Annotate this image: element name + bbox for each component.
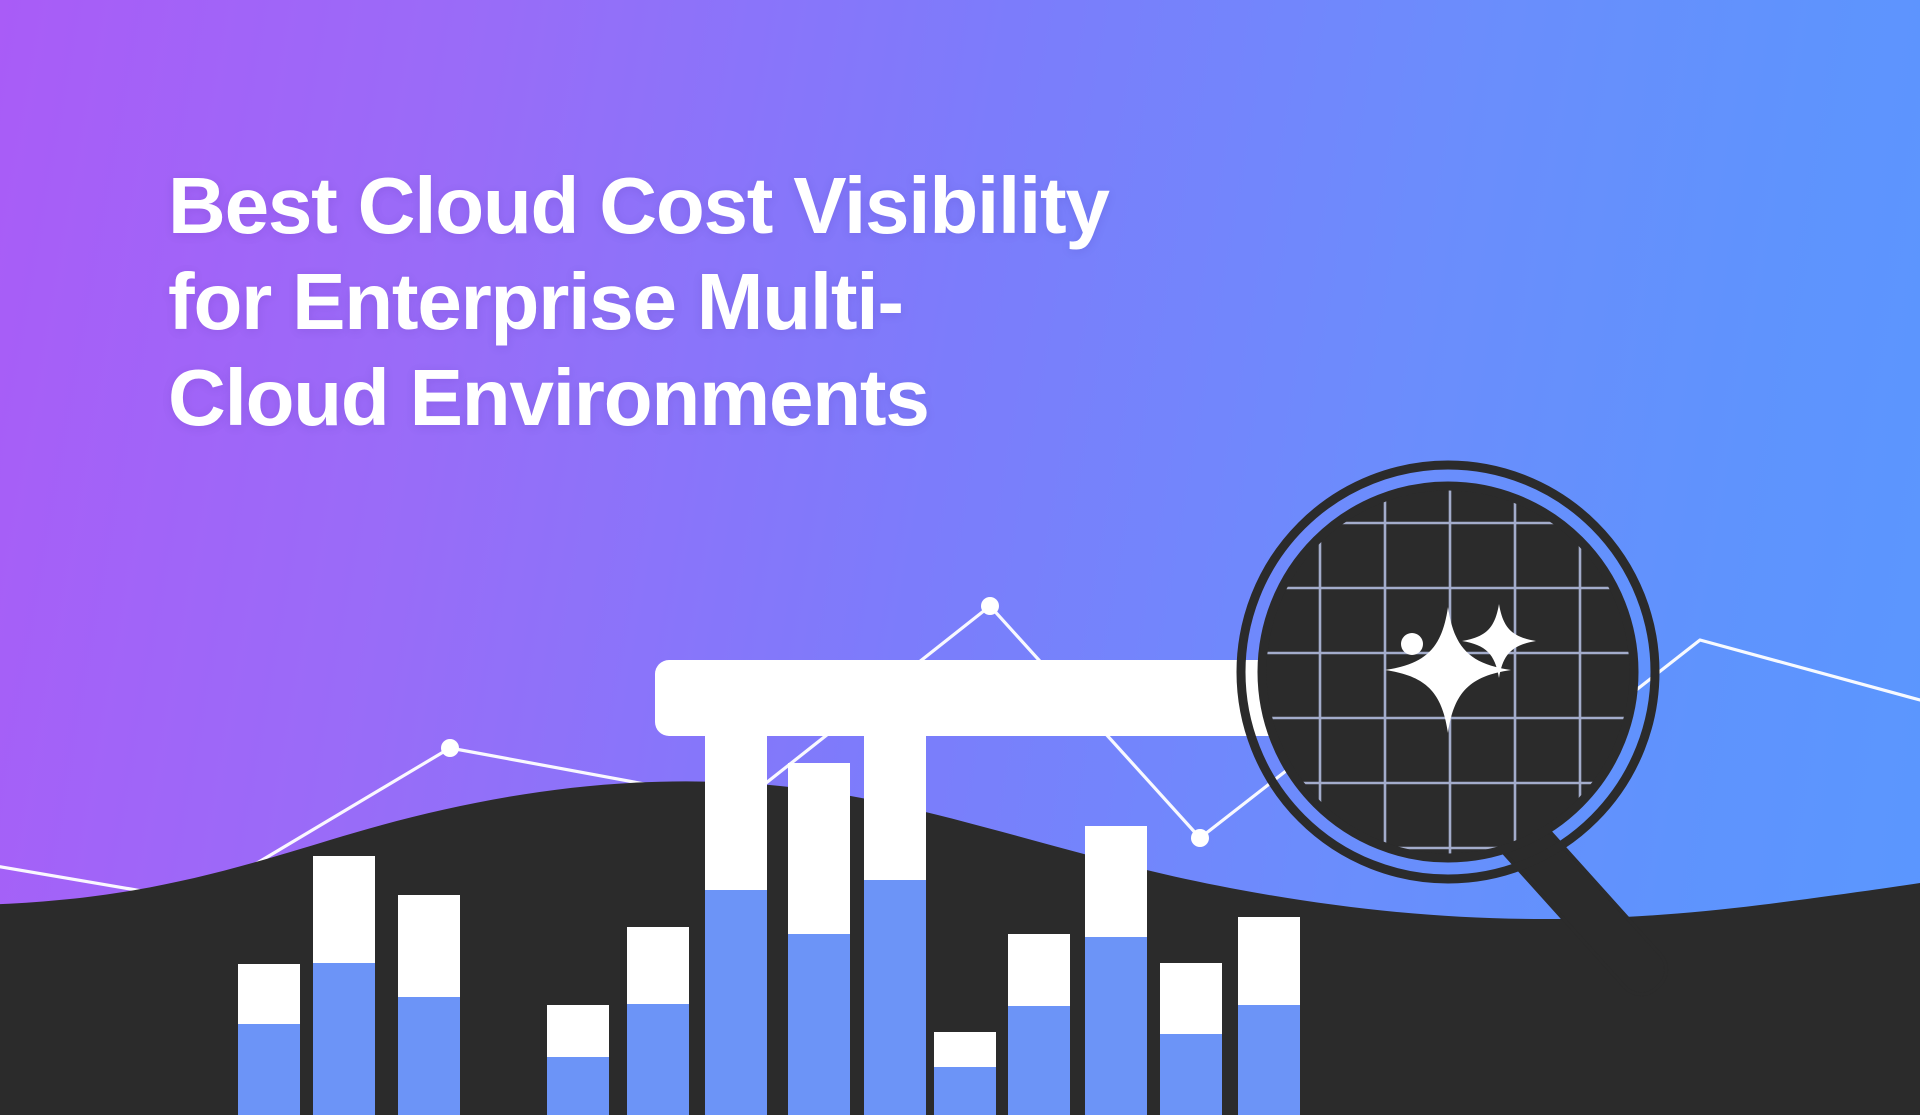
bar-1 xyxy=(238,964,300,1115)
bar-5 xyxy=(627,927,689,1115)
bar-2 xyxy=(313,856,375,1115)
bar-6 xyxy=(705,718,767,1115)
bar-11 xyxy=(1085,826,1147,1115)
bar-3 xyxy=(398,895,460,1115)
bar-9 xyxy=(934,1032,996,1115)
bar-12 xyxy=(1160,963,1222,1115)
bar-10 xyxy=(1008,934,1070,1115)
bar-4 xyxy=(547,1005,609,1115)
bar-8 xyxy=(864,733,926,1115)
dot-icon xyxy=(1401,633,1423,655)
bar-13 xyxy=(1238,917,1300,1115)
hero-banner: Best Cloud Cost Visibility for Enterpris… xyxy=(0,0,1920,1115)
bar-7 xyxy=(788,763,850,1115)
hero-illustration xyxy=(0,0,1920,1115)
